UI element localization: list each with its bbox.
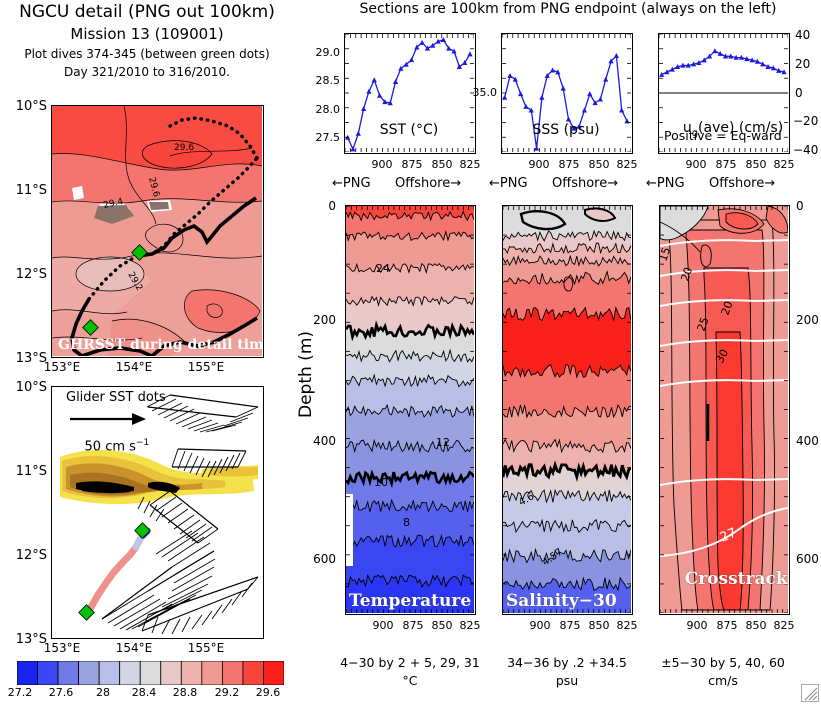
glider-xlabel-2: 155°E — [188, 641, 225, 655]
cbar-label-0: 27.2 — [8, 686, 33, 699]
vel-xtick-1: 875 — [717, 619, 738, 632]
sst-ytick-0: 29.0 — [316, 46, 341, 59]
cbar-label-1: 27.6 — [49, 686, 74, 699]
sss-xtick-1: 875 — [559, 158, 580, 171]
ug-xtick-1: 875 — [716, 158, 737, 171]
sst-direction-offshore: Offshore→ — [395, 176, 461, 191]
ug-direction-png: ←PNG — [646, 176, 685, 191]
temperature-section: 2412108 Temperature — [345, 205, 476, 615]
depth-tick-3: 600 — [313, 552, 336, 566]
depth-tick-right-1: 200 — [796, 313, 819, 327]
glider-map-label: Glider SST dots — [66, 390, 166, 405]
ghrsst-map-label: GHRSST during detail time — [58, 337, 264, 353]
salinity-section-label: Salinity−30 — [506, 591, 617, 611]
crosstrack-section: 152020253027 Crosstrack ug — [659, 205, 790, 615]
glider-ylabel-0: 10°S — [16, 380, 47, 395]
depth-tick-2: 400 — [313, 434, 336, 448]
svg-text:29.6: 29.6 — [174, 143, 194, 153]
cbar-label-4: 28.8 — [173, 686, 198, 699]
sst-xtick-1: 875 — [402, 158, 423, 171]
ghrsst-ylabel-3: 13°S — [16, 351, 47, 366]
scale-arrow-value: 50 cm s — [85, 439, 136, 454]
ghrsst-ylabel-2: 12°S — [16, 267, 47, 282]
glider-ylabel-3: 13°S — [16, 632, 47, 647]
depth-tick-right-0: 0 — [796, 199, 804, 213]
depth-tick-1: 200 — [313, 313, 336, 327]
svg-text:12: 12 — [436, 436, 450, 449]
ug-ytick-2: 0 — [795, 86, 803, 100]
depth-axis-label: Depth (m) — [296, 331, 316, 418]
sss-direction-offshore: Offshore→ — [552, 176, 618, 191]
sal-caption-2: psu — [556, 673, 578, 688]
svg-text:24: 24 — [376, 262, 390, 275]
temp-caption-1: 4−30 by 2 + 5, 29, 31 — [340, 655, 480, 670]
glider-xlabel-0: 153°E — [44, 641, 81, 655]
temperature-section-label: Temperature — [349, 591, 471, 611]
ug-xtick-3: 825 — [774, 158, 795, 171]
sal-xtick-2: 850 — [589, 619, 610, 632]
cbar-label-5: 29.2 — [215, 686, 240, 699]
depth-tick-right-3: 600 — [796, 552, 819, 566]
sal-xtick-3: 825 — [617, 619, 638, 632]
ug-line-plot: ug(ave) (cm/s) Positive = Eq-ward — [658, 33, 790, 154]
sss-direction-png: ←PNG — [489, 176, 528, 191]
ug-xtick-2: 850 — [746, 158, 767, 171]
resize-grip-icon[interactable] — [801, 684, 819, 702]
svg-text:8: 8 — [403, 516, 410, 529]
temp-xtick-1: 875 — [403, 619, 424, 632]
vel-xtick-3: 825 — [774, 619, 795, 632]
sss-ytick-0: 35.0 — [473, 86, 498, 99]
ug-ytick-3: −20 — [793, 114, 818, 128]
temp-xtick-2: 850 — [432, 619, 453, 632]
sss-plot-label: SSS (psu) — [532, 122, 599, 138]
sst-direction-png: ←PNG — [332, 176, 371, 191]
colorbar-labels: 27.2 27.6 28 28.4 28.8 29.2 29.6 — [17, 686, 284, 702]
ghrsst-map: 29.6 29.6 29.4 29.2 GHRSST during detail… — [51, 105, 264, 358]
temp-xtick-0: 900 — [373, 619, 394, 632]
vel-caption-1: ±5−30 by 5, 40, 60 — [661, 655, 785, 670]
ghrsst-ylabel-1: 11°S — [16, 183, 47, 198]
depth-tick-right-2: 400 — [796, 434, 819, 448]
glider-ylabel-2: 12°S — [16, 548, 47, 563]
ug-xtick-0: 900 — [686, 158, 707, 171]
cbar-label-3: 28.4 — [132, 686, 157, 699]
salinity-section: 4.64.57 Salinity−30 — [502, 205, 633, 615]
sst-xtick-2: 850 — [432, 158, 453, 171]
glider-xlabel-1: 154°E — [116, 641, 153, 655]
mission-subtitle: Mission 13 (109001) — [70, 25, 223, 43]
ug-ytick-1: 20 — [795, 57, 810, 71]
sst-plot-label: SST (°C) — [380, 122, 438, 138]
sst-ytick-3: 27.5 — [316, 131, 341, 144]
temp-xtick-3: 825 — [460, 619, 481, 632]
ug-ytick-4: −40 — [793, 143, 818, 157]
ghrsst-xlabel-0: 153°E — [44, 360, 81, 374]
svg-text:10: 10 — [374, 476, 388, 489]
ghrsst-xlabel-1: 154°E — [116, 360, 153, 374]
sst-ytick-1: 28.5 — [316, 74, 341, 87]
vel-xtick-0: 900 — [687, 619, 708, 632]
sst-colorbar — [17, 661, 284, 685]
temp-caption-2: °C — [403, 673, 418, 688]
sss-xtick-3: 825 — [617, 158, 638, 171]
ug-direction-offshore: Offshore→ — [709, 176, 775, 191]
sal-caption-1: 34−36 by .2 +34.5 — [507, 655, 627, 670]
glider-map: Glider SST dots 50 cm s−1 — [51, 386, 264, 639]
cbar-label-2: 28 — [96, 686, 110, 699]
ghrsst-xlabel-2: 155°E — [188, 360, 225, 374]
sst-line-plot: SST (°C) — [344, 33, 476, 154]
ug-plot-label2: Positive = Eq-ward — [664, 128, 782, 143]
sss-line-plot: SSS (psu) — [501, 33, 633, 154]
sst-ytick-2: 28.0 — [316, 103, 341, 116]
vel-xtick-2: 850 — [746, 619, 767, 632]
dives-subtitle: Plot dives 374-345 (between green dots) — [24, 47, 269, 61]
crosstrack-label-main: Crosstrack u — [685, 569, 790, 589]
depth-tick-0: 0 — [328, 199, 336, 213]
ug-ytick-0: 40 — [795, 28, 810, 42]
glider-ylabel-1: 11°S — [16, 464, 47, 479]
sss-xtick-0: 900 — [529, 158, 550, 171]
ghrsst-ylabel-0: 10°S — [16, 99, 47, 114]
sections-note: Sections are 100km from PNG endpoint (al… — [360, 1, 777, 17]
crosstrack-section-label: Crosstrack ug — [661, 549, 790, 611]
cbar-label-6: 29.6 — [256, 686, 281, 699]
sss-xtick-2: 850 — [589, 158, 610, 171]
sal-xtick-1: 875 — [560, 619, 581, 632]
vel-caption-2: cm/s — [708, 673, 738, 688]
sst-xtick-0: 900 — [372, 158, 393, 171]
scale-arrow-label: 50 cm s−1 — [68, 423, 149, 469]
days-subtitle: Day 321/2010 to 316/2010. — [64, 65, 230, 79]
sal-xtick-0: 900 — [530, 619, 551, 632]
scale-arrow-exp: −1 — [136, 438, 149, 448]
page-title: NGCU detail (PNG out 100km) — [19, 2, 275, 22]
sst-xtick-3: 825 — [460, 158, 481, 171]
